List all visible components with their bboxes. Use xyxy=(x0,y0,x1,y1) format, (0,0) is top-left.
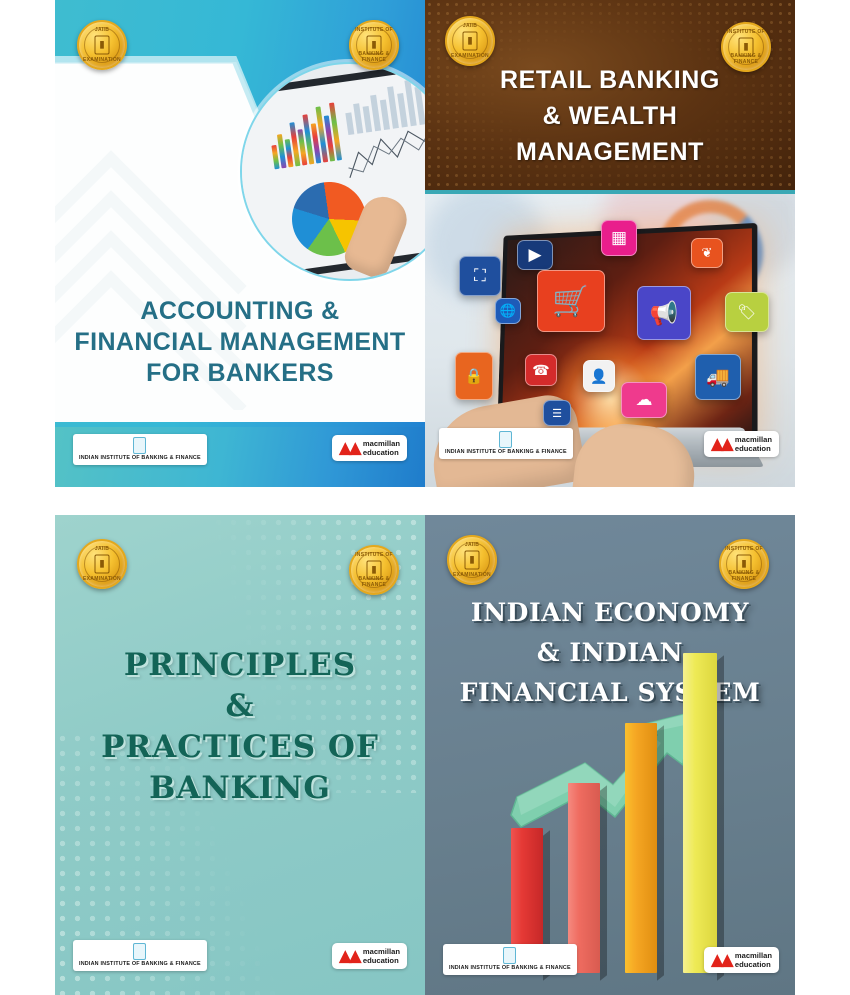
title-line-3: MANAGEMENT xyxy=(425,134,795,170)
chart-bar xyxy=(625,723,657,973)
jaiib-medal-badge: JAIIB ▮ EXAMINATION xyxy=(77,20,127,70)
macmillan-mark-icon: ▲▲ xyxy=(339,441,359,455)
medal-bottom-text: BANKING & FINANCE xyxy=(351,51,397,63)
medal-top-text: INSTITUTE OF xyxy=(351,552,397,558)
iibf-logo-text: INDIAN INSTITUTE OF BANKING & FINANCE xyxy=(449,965,571,971)
title-line-3: PRACTICES OF xyxy=(55,727,425,768)
iibf-logo-text: INDIAN INSTITUTE OF BANKING & FINANCE xyxy=(445,449,567,455)
iibf-medal-badge: INSTITUTE OF ▮ BANKING & FINANCE xyxy=(719,539,769,589)
title-line-2: & WEALTH xyxy=(425,98,795,134)
iibf-logo-text: INDIAN INSTITUTE OF BANKING & FINANCE xyxy=(79,455,201,461)
book2-title: RETAIL BANKING & WEALTH MANAGEMENT xyxy=(425,62,795,170)
medal-bottom-text: EXAMINATION xyxy=(79,576,125,582)
iibf-emblem-icon xyxy=(499,431,512,448)
medal-top-text: JAIIB xyxy=(79,546,125,552)
book-cover-accounting[interactable]: JAIIB ▮ EXAMINATION INSTITUTE OF ▮ BANKI… xyxy=(55,0,425,487)
chart-bar xyxy=(683,653,717,973)
title-line-3: FOR BANKERS xyxy=(55,358,425,389)
line-graph-icon xyxy=(341,118,425,190)
title-line-3: FINANCIAL SYSTEM xyxy=(425,673,795,713)
iibf-logo: INDIAN INSTITUTE OF BANKING & FINANCE xyxy=(439,428,573,459)
video-icon: ▶ xyxy=(517,240,553,270)
iibf-logo: INDIAN INSTITUTE OF BANKING & FINANCE xyxy=(73,434,207,465)
medal-top-text: JAIIB xyxy=(449,542,495,548)
book-cover-principles-practices[interactable]: JAIIB ▮ EXAMINATION INSTITUTE OF ▮ BANKI… xyxy=(55,515,425,995)
title-line-4: BANKING xyxy=(55,768,425,809)
medal-bottom-text: BANKING & FINANCE xyxy=(351,576,397,588)
globe-icon: 🌐 xyxy=(495,298,521,324)
iibf-medal-badge: INSTITUTE OF ▮ BANKING & FINANCE xyxy=(349,545,399,595)
iibf-medal-badge: INSTITUTE OF ▮ BANKING & FINANCE xyxy=(349,20,399,70)
megaphone-icon: 📢 xyxy=(637,286,691,340)
sale-tag-icon: 🏷 xyxy=(725,292,769,332)
title-line-2: & INDIAN xyxy=(425,633,795,673)
jaiib-medal-badge: JAIIB ▮ EXAMINATION xyxy=(447,535,497,585)
book3-title: PRINCIPLES & PRACTICES OF BANKING xyxy=(55,645,425,809)
chat-icon: ❦ xyxy=(691,238,723,268)
truck-icon: 🚚 xyxy=(695,354,741,400)
document-icon: ▦ xyxy=(601,220,637,256)
macmillan-logo: ▲▲ macmillan education xyxy=(332,435,407,461)
iibf-emblem-icon xyxy=(133,943,146,960)
medal-top-text: JAIIB xyxy=(447,23,493,29)
medal-bottom-text: EXAMINATION xyxy=(447,53,493,59)
book1-title: ACCOUNTING & FINANCIAL MANAGEMENT FOR BA… xyxy=(55,296,425,389)
iibf-logo: INDIAN INSTITUTE OF BANKING & FINANCE xyxy=(443,944,577,975)
cloud-icon: ☁ xyxy=(621,382,667,418)
medal-bottom-text: EXAMINATION xyxy=(79,57,125,63)
medal-top-text: INSTITUTE OF xyxy=(351,27,397,33)
medal-mark: ▮ xyxy=(463,32,478,51)
medal-top-text: INSTITUTE OF xyxy=(723,29,769,35)
cart-icon: 🛒 xyxy=(537,270,605,332)
book-collage: JAIIB ▮ EXAMINATION INSTITUTE OF ▮ BANKI… xyxy=(0,0,850,995)
lock-icon: 🔒 xyxy=(455,352,493,400)
user-icon: 👤 xyxy=(583,360,615,392)
title-line-1: RETAIL BANKING xyxy=(425,62,795,98)
jaiib-medal-badge: JAIIB ▮ EXAMINATION xyxy=(77,539,127,589)
book4-title: INDIAN ECONOMY & INDIAN FINANCIAL SYSTEM xyxy=(425,593,795,713)
book-cover-retail-banking[interactable]: JAIIB ▮ EXAMINATION INSTITUTE OF ▮ BANKI… xyxy=(425,0,795,487)
macmillan-logo-text: macmillan education xyxy=(363,947,400,965)
macmillan-logo: ▲▲ macmillan education xyxy=(332,943,407,969)
iibf-emblem-icon xyxy=(133,437,146,454)
medal-mark: ▮ xyxy=(465,551,480,570)
macmillan-mark-icon: ▲▲ xyxy=(711,953,731,967)
macmillan-logo: ▲▲ macmillan education xyxy=(704,431,779,457)
store-icon: ⛶ xyxy=(459,256,501,296)
book1-artwork-circle xyxy=(240,62,425,281)
iibf-logo-text: INDIAN INSTITUTE OF BANKING & FINANCE xyxy=(79,961,201,967)
card-icon: ☰ xyxy=(543,400,571,426)
title-line-1: ACCOUNTING & xyxy=(55,296,425,327)
medal-mark: ▮ xyxy=(95,555,110,574)
iibf-emblem-icon xyxy=(503,947,516,964)
macmillan-mark-icon: ▲▲ xyxy=(711,437,731,451)
title-line-2: & xyxy=(55,686,425,727)
title-line-2: FINANCIAL MANAGEMENT xyxy=(55,327,425,358)
macmillan-logo-text: macmillan education xyxy=(735,951,772,969)
medal-top-text: INSTITUTE OF xyxy=(721,546,767,552)
book-cover-indian-economy[interactable]: JAIIB ▮ EXAMINATION INSTITUTE OF ▮ BANKI… xyxy=(425,515,795,995)
macmillan-mark-icon: ▲▲ xyxy=(339,949,359,963)
medal-top-text: JAIIB xyxy=(79,27,125,33)
jaiib-medal-badge: JAIIB ▮ EXAMINATION xyxy=(445,16,495,66)
medal-bottom-text: BANKING & FINANCE xyxy=(721,570,767,582)
macmillan-logo-text: macmillan education xyxy=(735,435,772,453)
title-line-1: PRINCIPLES xyxy=(55,645,425,686)
medal-bottom-text: EXAMINATION xyxy=(449,572,495,578)
medal-mark: ▮ xyxy=(95,36,110,55)
support-icon: ☎ xyxy=(525,354,557,386)
macmillan-logo-text: macmillan education xyxy=(363,439,400,457)
iibf-logo: INDIAN INSTITUTE OF BANKING & FINANCE xyxy=(73,940,207,971)
macmillan-logo: ▲▲ macmillan education xyxy=(704,947,779,973)
book2-artwork-photo: ⛶ ▶ 🌐 ▦ ❦ 🛒 📢 🏷 🔒 ☎ 👤 ☁ 🚚 ☰ INDIAN INSTI… xyxy=(425,194,795,487)
title-line-1: INDIAN ECONOMY xyxy=(425,593,795,633)
